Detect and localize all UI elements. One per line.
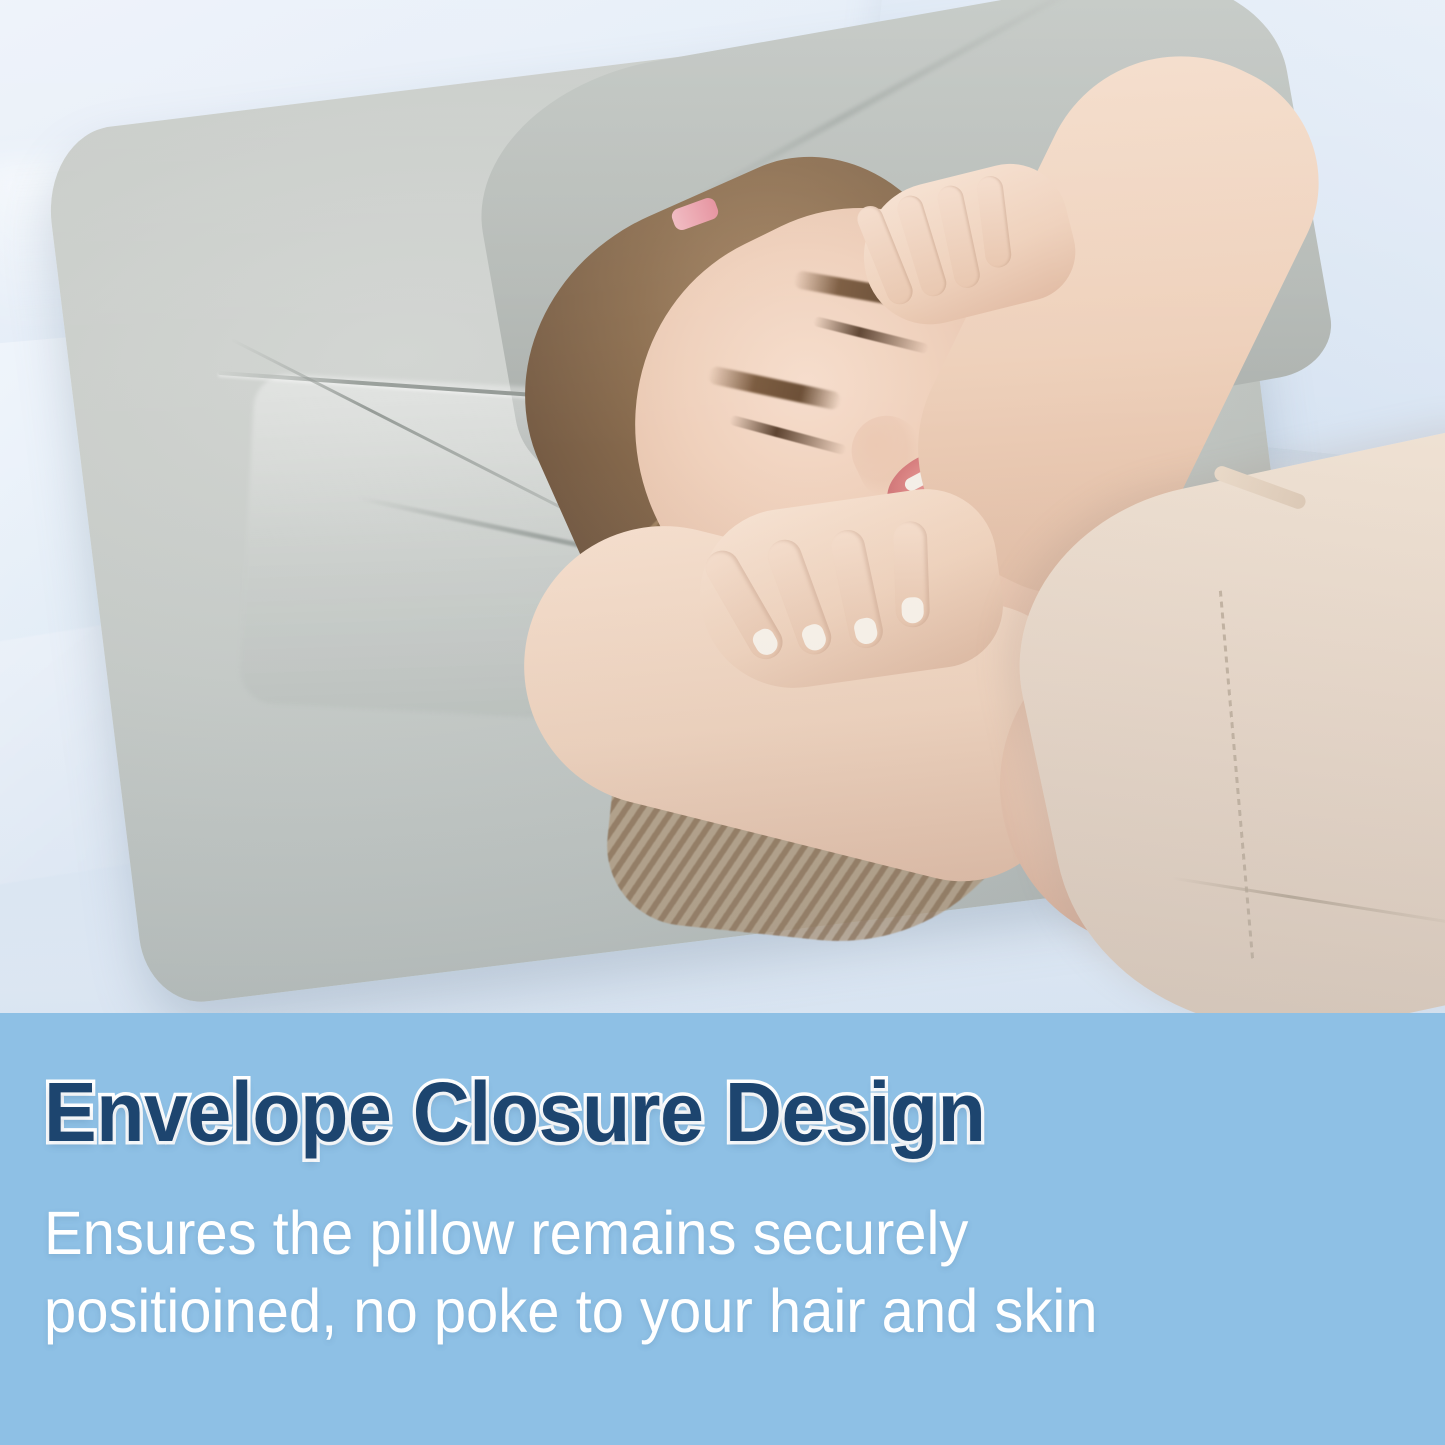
subtext-line-2: positioined, no poke to your hair and sk… xyxy=(44,1273,1333,1350)
fingernail xyxy=(852,616,879,646)
caption-banner: Envelope Closure Design Ensures the pill… xyxy=(0,1013,1445,1445)
finger xyxy=(893,521,931,628)
subtext: Ensures the pillow remains securely posi… xyxy=(44,1195,1333,1350)
headline: Envelope Closure Design xyxy=(44,1071,1320,1153)
finger xyxy=(976,174,1013,268)
fingernail xyxy=(901,597,924,624)
fingernail xyxy=(799,622,829,654)
subtext-line-1: Ensures the pillow remains securely xyxy=(44,1199,968,1267)
product-feature-card: Envelope Closure Design Ensures the pill… xyxy=(0,0,1445,1445)
fingernail xyxy=(750,625,782,659)
finger xyxy=(828,527,886,651)
lifestyle-photo xyxy=(0,0,1445,1013)
